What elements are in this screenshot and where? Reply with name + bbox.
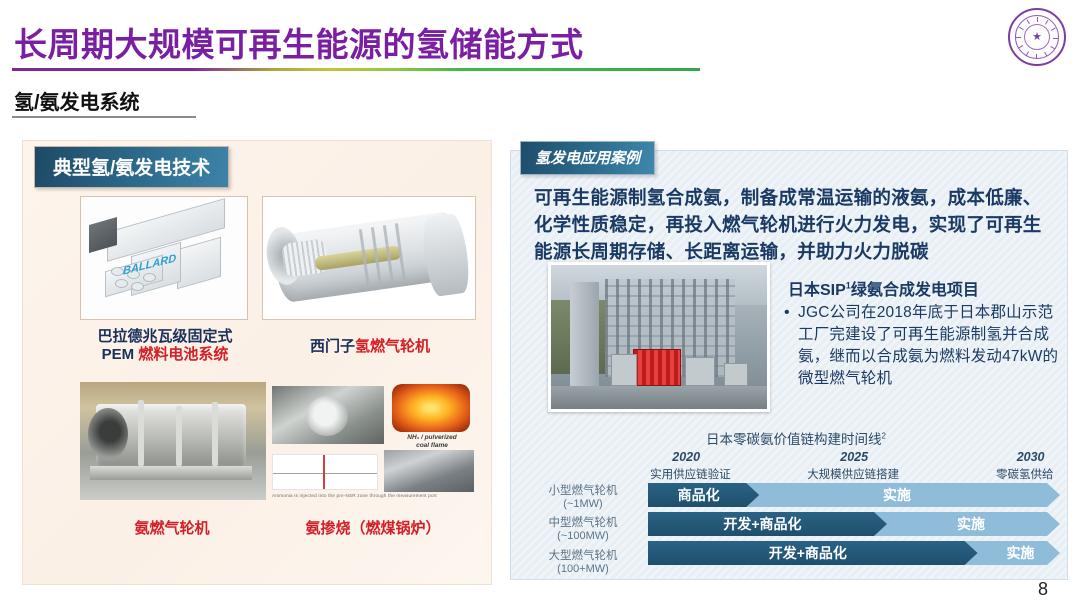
caption-siemens: 西门子氢燃气轮机	[270, 338, 470, 356]
jgc-plant-photo	[548, 262, 770, 412]
jgc-bullet-text: JGC公司在2018年底于日本郡山示范工厂完建设了可再生能源制氢并合成氨，继而以…	[798, 302, 1060, 390]
ballard-cell-4	[115, 279, 128, 288]
timeline-year-2030: 2030	[1017, 450, 1045, 464]
ammonia-gas-turbine-image	[80, 382, 266, 500]
timeline-row-labels: 小型燃气轮机(~1MW)中型燃气轮机(~100MW)大型燃气轮机(100+MW)	[524, 484, 642, 581]
row-label-line1: 大型燃气轮机	[524, 549, 642, 563]
row-label-line1: 中型燃气轮机	[524, 516, 642, 530]
plant-container-2	[685, 357, 715, 386]
timeline-milestone-2: 零碳氢供给	[996, 466, 1054, 482]
flame-caption: NH₃ / pulverized coal flame	[390, 434, 474, 450]
ballard-fuel-cell-image: BALLARD	[80, 196, 248, 320]
caption-ammonia-cofiring: 氨掺烧（燃煤锅炉）	[266, 520, 480, 538]
timeline-segment-label-development-1: 开发+商品化	[723, 514, 811, 534]
jgc-bullet-item: • JGC公司在2018年底于日本郡山示范工厂完建设了可再生能源制氢并合成氨，继…	[784, 302, 1060, 390]
page-number: 8	[1038, 579, 1048, 600]
cofiring-schematic-diagram	[272, 454, 378, 490]
right-panel-badge: 氢发电应用案例	[520, 141, 655, 175]
timeline-segment-label-implementation-0: 实施	[883, 485, 911, 505]
caption-siemens-type: 氢燃气轮机	[355, 338, 430, 355]
timeline-year-2020: 2020	[672, 450, 700, 464]
row-label-line1: 小型燃气轮机	[524, 484, 642, 498]
timeline-row-label-0: 小型燃气轮机(~1MW)	[524, 484, 642, 511]
turbine-skid-base	[90, 466, 252, 480]
sip-title-suffix: 绿氨合成发电项目	[851, 282, 979, 299]
flame-caption-line2: coal flame	[416, 442, 448, 449]
timeline-row-0: 实施商品化	[648, 483, 1060, 507]
caption-fuel-cell-system: 燃料电池系统	[138, 346, 228, 363]
timeline-bars: 实施商品化实施开发+商品化实施开发+商品化	[648, 483, 1060, 569]
flame-caption-line1: NH₃ / pulverized	[407, 434, 456, 441]
photo-ground	[551, 386, 767, 409]
turbine-intake-drum	[88, 408, 128, 460]
page-subtitle: 氢/氨发电系统	[14, 86, 140, 115]
caption-fuel-cell-line1: 巴拉德兆瓦级固定式	[97, 328, 232, 345]
timeline-segment-label-development-0: 商品化	[678, 485, 730, 505]
bullet-marker-icon: •	[784, 302, 798, 390]
cofiring-plant-photo	[384, 450, 474, 492]
timeline-segment-development-0: 商品化	[648, 483, 759, 507]
title-gradient-rule	[12, 68, 700, 71]
timeline-title-footnote-marker: 2	[882, 432, 886, 441]
subtitle-rule	[12, 116, 196, 118]
timeline-segment-development-1: 开发+商品化	[648, 512, 887, 536]
plant-red-module	[633, 349, 681, 386]
turbine-pipe-2	[176, 406, 182, 466]
timeline-segment-label-implementation-2: 实施	[1006, 543, 1034, 563]
cofiring-burner-photo	[272, 386, 384, 444]
university-seal-logo: ★	[1008, 8, 1066, 66]
caption-fuel-cell: 巴拉德兆瓦级固定式 PEM 燃料电池系统	[60, 328, 270, 365]
siemens-turbine-image	[262, 196, 476, 320]
row-label-line2: (~100MW)	[524, 530, 642, 543]
sip-title-prefix: 日本SIP	[788, 282, 846, 299]
timeline-row-1: 实施开发+商品化	[648, 512, 1060, 536]
timeline-year-axis: 202020252030	[640, 450, 1060, 466]
diagram-footnote: Ammonia is injected into the pre-NSR zon…	[272, 493, 476, 498]
turbine-pipe-3	[212, 402, 218, 466]
plant-column-tower	[570, 282, 598, 389]
timeline-milestone-labels: 实用供应链验证大规模供应链搭建零碳氢供给	[620, 466, 1060, 482]
timeline-year-2025: 2025	[840, 450, 868, 464]
timeline-segment-label-implementation-1: 实施	[957, 514, 985, 534]
timeline-title: 日本零碳氨价值链构建时间线2	[706, 428, 886, 448]
caption-ammonia-turbine: 氨燃气轮机	[72, 520, 272, 538]
left-panel-badge: 典型氢/氨发电技术	[34, 146, 229, 188]
row-label-line2: (100+MW)	[524, 563, 642, 576]
timeline-title-text: 日本零碳氨价值链构建时间线	[706, 432, 882, 447]
ballard-cell-3	[143, 273, 156, 282]
ammonia-cofiring-image: NH₃ / pulverized coal flame Ammonia is i…	[272, 380, 476, 502]
timeline-milestone-1: 大规模供应链搭建	[807, 466, 899, 482]
timeline-segment-label-development-2: 开发+商品化	[769, 543, 857, 563]
caption-fuel-cell-pem: PEM	[102, 346, 139, 363]
seal-tick-ring	[1016, 16, 1058, 58]
timeline-milestone-0: 实用供应链验证	[650, 466, 731, 482]
caption-siemens-brand: 西门子	[310, 338, 355, 355]
timeline-segment-development-2: 开发+商品化	[648, 541, 978, 565]
plant-container-1	[611, 354, 637, 386]
timeline-row-2: 实施开发+商品化	[648, 541, 1060, 565]
timeline-row-label-2: 大型燃气轮机(100+MW)	[524, 549, 642, 576]
sip-project-title: 日本SIP1绿氨合成发电项目	[788, 276, 1058, 300]
cofiring-flame-photo	[392, 384, 470, 432]
seal-inner-ring: ★	[1015, 15, 1059, 59]
case-intro-text: 可再生能源制氢合成氨，制备成常温运输的液氨，成本低廉、化学性质稳定，再投入燃气轮…	[534, 184, 1056, 265]
timeline-row-label-1: 中型燃气轮机(~100MW)	[524, 516, 642, 543]
row-label-line2: (~1MW)	[524, 498, 642, 511]
turbine-pipe-1	[138, 400, 144, 466]
page-title: 长周期大规模可再生能源的氢储能方式	[14, 18, 584, 66]
plant-container-3	[724, 363, 748, 386]
ballard-cell-5	[131, 282, 144, 291]
